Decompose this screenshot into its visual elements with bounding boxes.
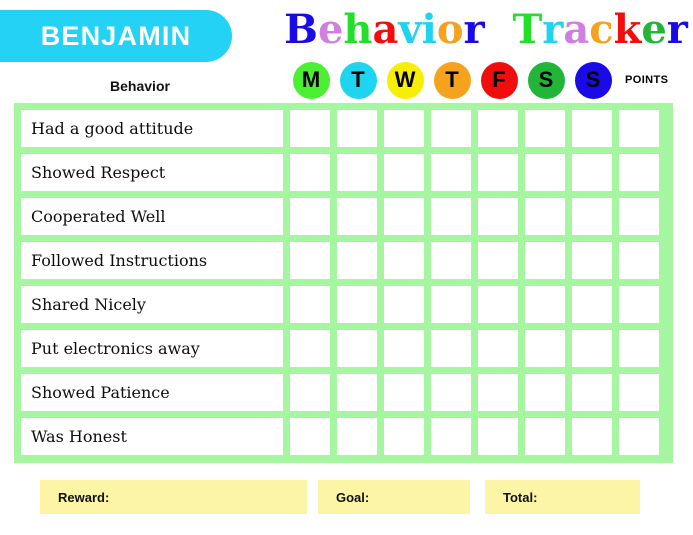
behavior-checkbox-cell[interactable]: [572, 110, 612, 147]
behavior-checkbox-cell[interactable]: [290, 110, 330, 147]
title-letter: a: [563, 8, 589, 52]
day-circle-icon: S: [575, 62, 612, 99]
behavior-checkbox-cell[interactable]: [337, 242, 377, 279]
behavior-checkbox-cell[interactable]: [572, 330, 612, 367]
behavior-checkbox-cell[interactable]: [619, 198, 659, 235]
title-letter: B: [284, 8, 318, 52]
behavior-row-label: Showed Patience: [21, 374, 283, 411]
behavior-checkbox-cell[interactable]: [619, 418, 659, 455]
behavior-checkbox-cell[interactable]: [431, 374, 471, 411]
points-column-label: POINTS: [625, 74, 668, 86]
behavior-checkbox-cell[interactable]: [525, 110, 565, 147]
behavior-row-label: Showed Respect: [21, 154, 283, 191]
behavior-checkbox-cell[interactable]: [384, 374, 424, 411]
day-header-row: MTWTFSSPOINTS: [291, 60, 668, 100]
goal-box[interactable]: Goal:: [318, 480, 470, 514]
behavior-checkbox-cell[interactable]: [337, 286, 377, 323]
title-letter: v: [398, 8, 421, 52]
reward-label: Reward:: [58, 490, 109, 505]
behavior-checkbox-cell[interactable]: [290, 374, 330, 411]
behavior-row-label: Had a good attitude: [21, 110, 283, 147]
behavior-row-label: Followed Instructions: [21, 242, 283, 279]
behavior-column-label: Behavior: [60, 78, 220, 94]
title-letter: [499, 8, 513, 52]
day-circle-icon: S: [528, 62, 565, 99]
behavior-checkbox-cell[interactable]: [525, 154, 565, 191]
behavior-checkbox-cell[interactable]: [619, 330, 659, 367]
title-letter: r: [542, 8, 563, 52]
title-letter: r: [667, 8, 688, 52]
behavior-checkbox-cell[interactable]: [478, 198, 518, 235]
reward-box[interactable]: Reward:: [40, 480, 307, 514]
day-header-slot: T: [338, 62, 378, 99]
behavior-row: Followed Instructions: [21, 242, 666, 279]
day-circle-icon: M: [293, 62, 330, 99]
behavior-row-label: Cooperated Well: [21, 198, 283, 235]
day-header-slot: T: [432, 62, 472, 99]
behavior-checkbox-cell[interactable]: [478, 110, 518, 147]
page-title: Behavior Tracker: [286, 6, 686, 54]
behavior-checkbox-cell[interactable]: [525, 198, 565, 235]
title-letter: a: [372, 8, 398, 52]
footer-row: Reward: Goal: Total:: [40, 480, 640, 514]
day-header-slot: S: [526, 62, 566, 99]
behavior-row: Had a good attitude: [21, 110, 666, 147]
behavior-checkbox-cell[interactable]: [525, 418, 565, 455]
day-circle-icon: W: [387, 62, 424, 99]
behavior-checkbox-cell[interactable]: [384, 330, 424, 367]
behavior-row: Showed Respect: [21, 154, 666, 191]
behavior-checkbox-cell[interactable]: [619, 242, 659, 279]
behavior-row-label: Was Honest: [21, 418, 283, 455]
behavior-checkbox-cell[interactable]: [572, 374, 612, 411]
behavior-row: Put electronics away: [21, 330, 666, 367]
behavior-checkbox-cell[interactable]: [572, 242, 612, 279]
day-header-slot: F: [479, 62, 519, 99]
behavior-row-label: Shared Nicely: [21, 286, 283, 323]
behavior-checkbox-cell[interactable]: [478, 374, 518, 411]
title-letter: e: [641, 8, 666, 52]
behavior-checkbox-cell[interactable]: [431, 110, 471, 147]
behavior-checkbox-cell[interactable]: [337, 374, 377, 411]
behavior-checkbox-cell[interactable]: [384, 198, 424, 235]
behavior-checkbox-cell[interactable]: [384, 418, 424, 455]
behavior-checkbox-cell[interactable]: [384, 154, 424, 191]
behavior-checkbox-cell[interactable]: [478, 286, 518, 323]
behavior-checkbox-cell[interactable]: [290, 198, 330, 235]
title-letter: k: [614, 8, 642, 52]
behavior-row: Showed Patience: [21, 374, 666, 411]
behavior-checkbox-cell[interactable]: [384, 110, 424, 147]
title-letter: [485, 8, 499, 52]
behavior-checkbox-cell[interactable]: [431, 198, 471, 235]
behavior-checkbox-cell[interactable]: [290, 418, 330, 455]
behavior-checkbox-cell[interactable]: [384, 286, 424, 323]
behavior-checkbox-cell[interactable]: [431, 286, 471, 323]
day-header-slot: M: [291, 62, 331, 99]
behavior-checkbox-cell[interactable]: [290, 242, 330, 279]
behavior-checkbox-cell[interactable]: [431, 330, 471, 367]
behavior-checkbox-cell[interactable]: [572, 154, 612, 191]
behavior-checkbox-cell[interactable]: [478, 418, 518, 455]
behavior-checkbox-cell[interactable]: [337, 418, 377, 455]
behavior-row-label: Put electronics away: [21, 330, 283, 367]
behavior-grid: Had a good attitudeShowed RespectCoopera…: [14, 103, 673, 463]
title-letter: h: [343, 8, 372, 52]
title-letter: r: [464, 8, 485, 52]
title-letter: T: [513, 8, 543, 52]
day-circle-icon: T: [434, 62, 471, 99]
behavior-checkbox-cell[interactable]: [619, 286, 659, 323]
behavior-checkbox-cell[interactable]: [572, 418, 612, 455]
behavior-checkbox-cell[interactable]: [525, 242, 565, 279]
behavior-checkbox-cell[interactable]: [431, 418, 471, 455]
total-label: Total:: [503, 490, 537, 505]
behavior-checkbox-cell[interactable]: [619, 110, 659, 147]
behavior-checkbox-cell[interactable]: [572, 198, 612, 235]
behavior-checkbox-cell[interactable]: [290, 330, 330, 367]
title-letter: o: [437, 8, 464, 52]
behavior-checkbox-cell[interactable]: [478, 154, 518, 191]
title-letter: c: [589, 8, 613, 52]
behavior-checkbox-cell[interactable]: [572, 286, 612, 323]
goal-label: Goal:: [336, 490, 369, 505]
behavior-checkbox-cell[interactable]: [431, 242, 471, 279]
student-name-banner: BENJAMIN: [0, 10, 232, 62]
day-circle-icon: T: [340, 62, 377, 99]
behavior-row: Shared Nicely: [21, 286, 666, 323]
behavior-checkbox-cell[interactable]: [337, 198, 377, 235]
behavior-checkbox-cell[interactable]: [290, 154, 330, 191]
title-letter: e: [318, 8, 343, 52]
behavior-checkbox-cell[interactable]: [619, 154, 659, 191]
student-name: BENJAMIN: [41, 21, 192, 52]
behavior-checkbox-cell[interactable]: [478, 242, 518, 279]
title-letter: i: [422, 8, 437, 52]
day-circle-icon: F: [481, 62, 518, 99]
behavior-row: Cooperated Well: [21, 198, 666, 235]
behavior-checkbox-cell[interactable]: [525, 286, 565, 323]
day-header-slot: S: [573, 62, 613, 99]
behavior-checkbox-cell[interactable]: [478, 330, 518, 367]
day-header-slot: W: [385, 62, 425, 99]
total-box[interactable]: Total:: [485, 480, 640, 514]
behavior-checkbox-cell[interactable]: [337, 330, 377, 367]
behavior-row: Was Honest: [21, 418, 666, 455]
behavior-checkbox-cell[interactable]: [525, 330, 565, 367]
behavior-checkbox-cell[interactable]: [337, 154, 377, 191]
behavior-checkbox-cell[interactable]: [525, 374, 565, 411]
behavior-checkbox-cell[interactable]: [619, 374, 659, 411]
behavior-checkbox-cell[interactable]: [384, 242, 424, 279]
behavior-checkbox-cell[interactable]: [337, 110, 377, 147]
behavior-checkbox-cell[interactable]: [290, 286, 330, 323]
behavior-checkbox-cell[interactable]: [431, 154, 471, 191]
